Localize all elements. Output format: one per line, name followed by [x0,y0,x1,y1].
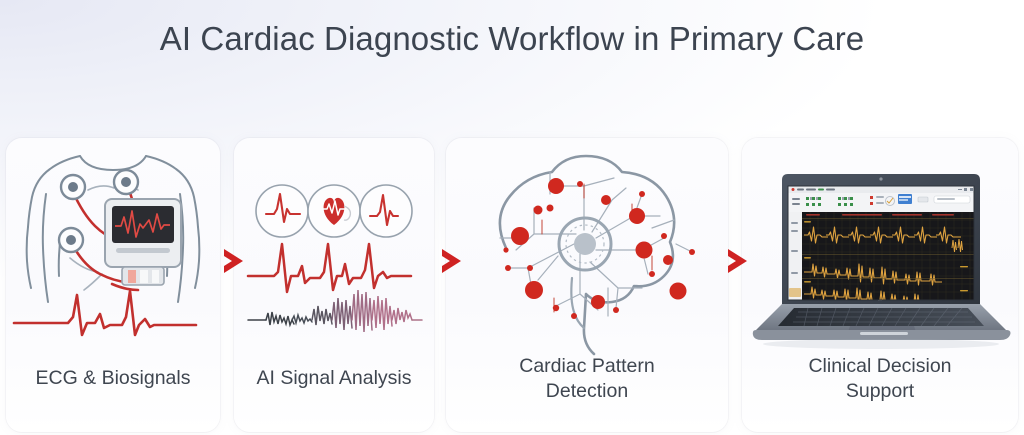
ai-brain-circuit-with-nodes-icon [446,138,728,358]
ecg-plot-area [802,212,974,300]
step-card-ecg-biosignals[interactable]: ECG & Biosignals [6,138,220,432]
step-card-cardiac-pattern-detection[interactable]: Cardiac Pattern Detection [446,138,728,432]
pattern-node-group [503,178,695,319]
ecg-waveform [14,291,196,335]
ecg-software-screen [788,186,982,306]
flow-arrow-2-icon [414,246,466,276]
workflow-steps: ECG & Biosignals [0,138,1024,435]
circle-icon-ecg-left [256,185,308,237]
step-label-ecg-biosignals: ECG & Biosignals [6,366,220,391]
step-label-line-1: Cardiac Pattern [446,354,728,379]
svg-text:···: ··· [878,299,881,303]
step-label-ai-signal-analysis: AI Signal Analysis [234,366,434,391]
step-label-clinical-decision-support: Clinical Decision Support [742,354,1018,404]
ecg-monitor-device [105,199,181,285]
webcam-icon [879,177,882,180]
circle-icon-heart [308,185,360,237]
step-label-cardiac-pattern-detection: Cardiac Pattern Detection [446,354,728,404]
gear-hub-icon [559,218,611,270]
circle-icon-ecg-right [360,185,412,237]
step-card-clinical-decision-support[interactable]: ··· Clinical Decision Support [742,138,1018,432]
patient-torso-with-ecg-electrodes-and-monitor-icon [6,138,220,358]
ecg-trace [248,244,411,292]
oscillation-waveform [248,290,422,332]
flow-arrow-1-icon [196,246,248,276]
step-label-line-2: Detection [446,379,728,404]
step-card-ai-signal-analysis[interactable]: AI Signal Analysis [234,138,434,432]
step-label-line-1: Clinical Decision [742,354,1018,379]
page-title: AI Cardiac Diagnostic Workflow in Primar… [0,20,1024,58]
flow-arrow-3-icon [700,246,752,276]
step-label-line-2: Support [742,379,1018,404]
laptop-with-ecg-software-icon: ··· [742,138,1018,358]
diagram-canvas: AI Cardiac Diagnostic Workflow in Primar… [0,0,1024,435]
signal-analysis-icons-and-waveforms-icon [234,138,434,358]
